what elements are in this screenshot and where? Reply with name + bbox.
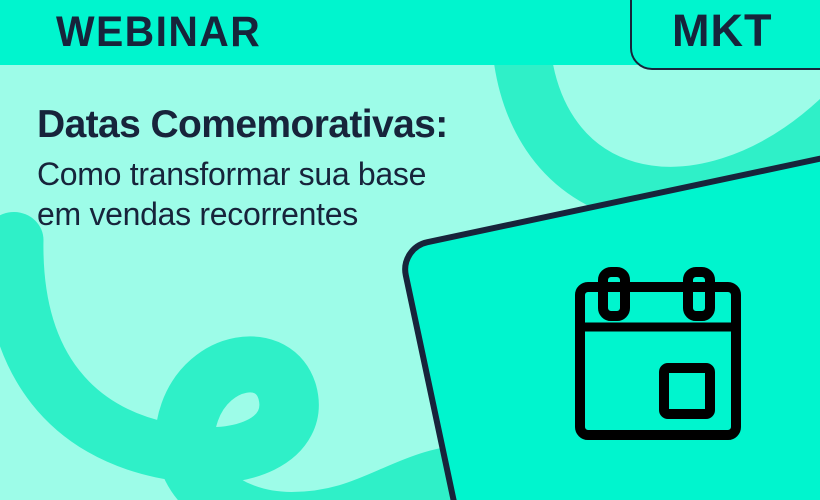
banner-artwork xyxy=(0,0,820,500)
webinar-eyebrow-label: WEBINAR xyxy=(56,4,261,60)
headline-block: Datas Comemorativas: Como transformar su… xyxy=(37,102,637,234)
headline-subtitle-line-2: em vendas recorrentes xyxy=(37,194,637,234)
mkt-badge-label: MKT xyxy=(672,2,772,60)
webinar-banner: WEBINAR MKT Datas Comemorativas: Como tr… xyxy=(0,0,820,500)
headline-title: Datas Comemorativas: xyxy=(37,102,637,148)
headline-subtitle-line-1: Como transformar sua base xyxy=(37,154,637,194)
